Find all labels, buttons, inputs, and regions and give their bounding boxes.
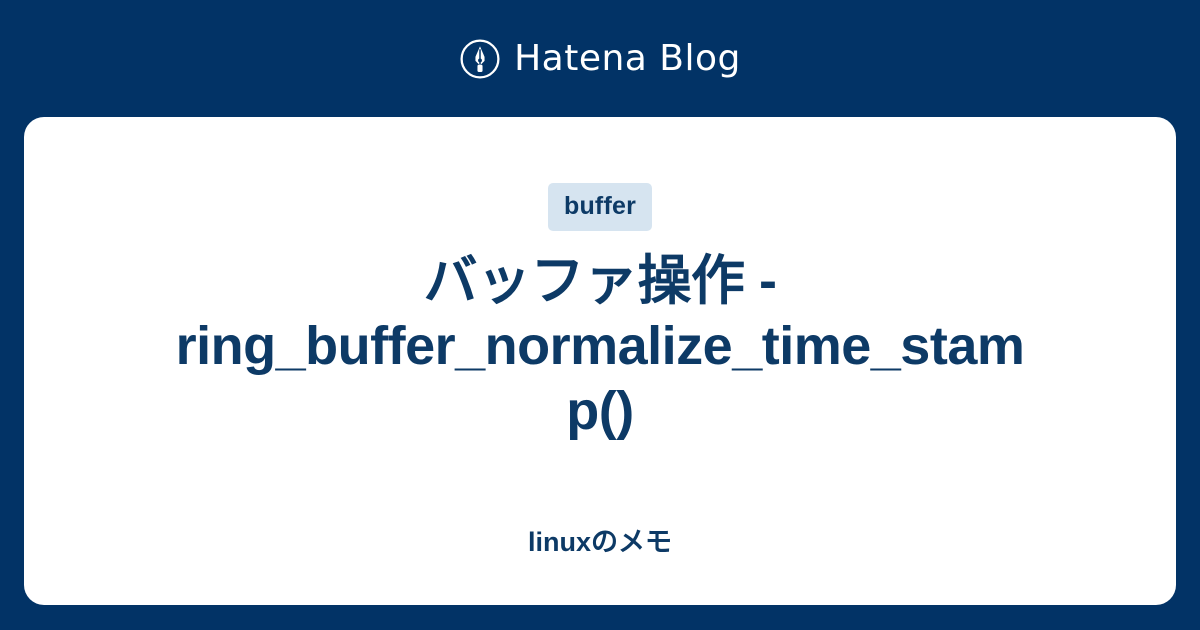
category-tag-buffer[interactable]: buffer — [548, 183, 652, 231]
entry-card: buffer バッファ操作 - ring_buffer_normalize_ti… — [24, 117, 1176, 605]
blog-subtitle: linuxのメモ — [528, 526, 672, 558]
brand-name: Hatena Blog — [514, 41, 741, 77]
tag-row: buffer — [548, 183, 652, 231]
og-image-root: Hatena Blog buffer バッファ操作 - ring_buffer_… — [0, 0, 1200, 630]
brand-header: Hatena Blog — [0, 0, 1200, 117]
hatena-pen-nib-icon — [459, 38, 501, 80]
entry-title: バッファ操作 - ring_buffer_normalize_time_stam… — [160, 249, 1040, 443]
